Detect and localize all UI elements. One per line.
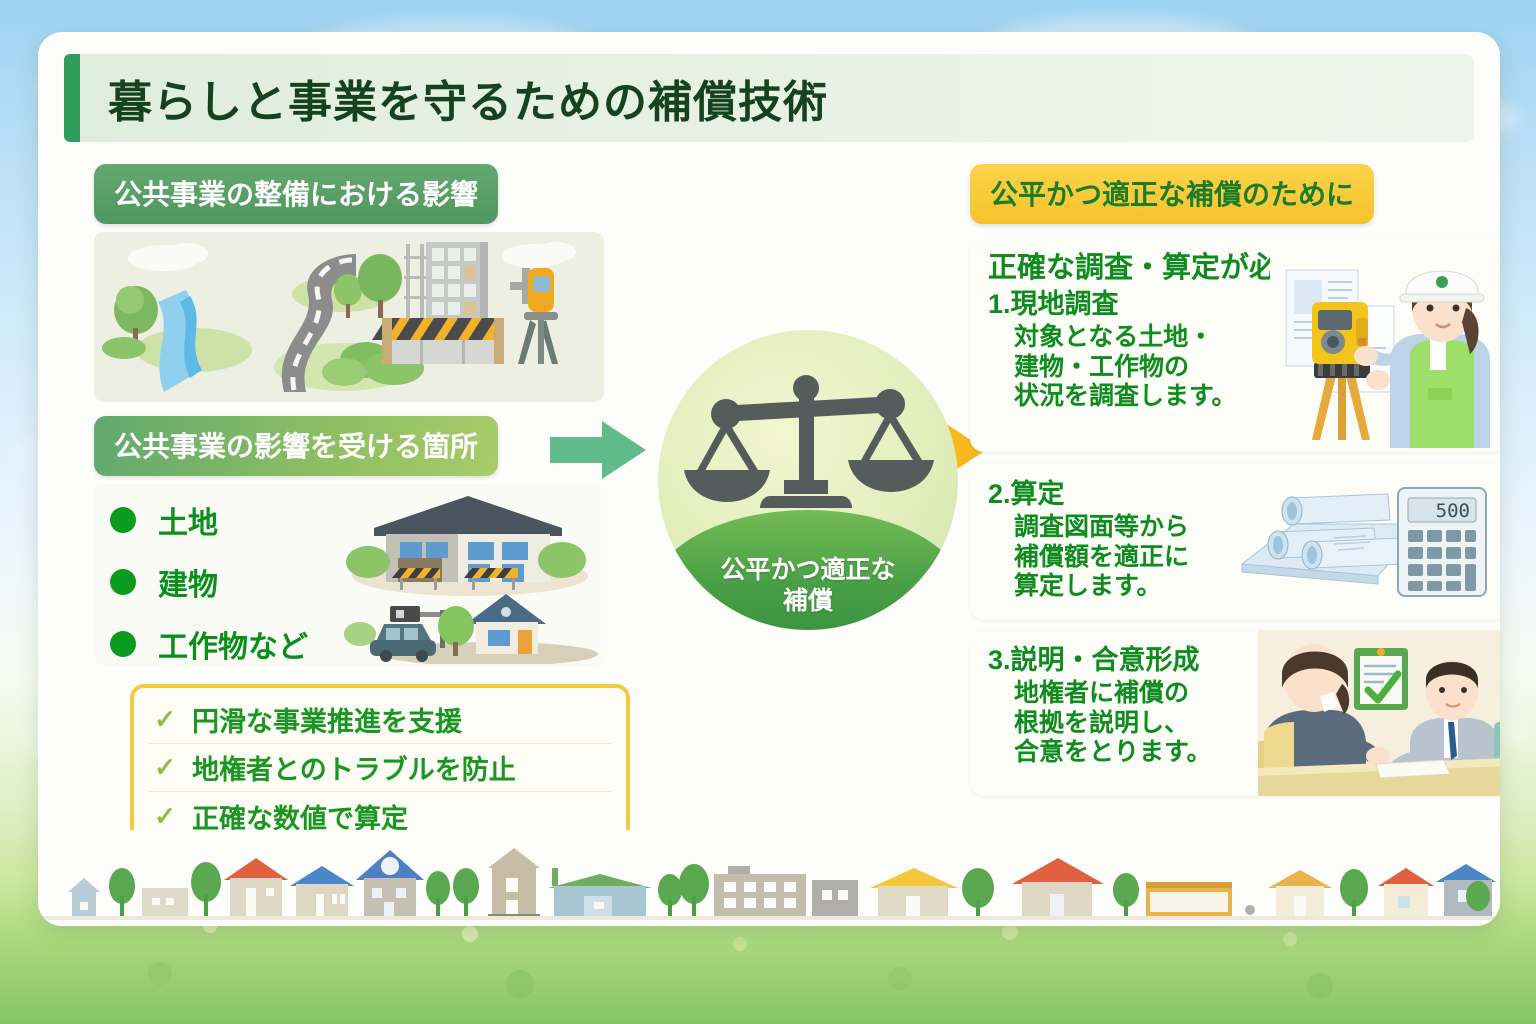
bullet-label: 工作物など xyxy=(158,622,308,666)
step-card-3: 3.説明・合意形成 地権者に補償の 根拠を説明し、 合意をとります。 xyxy=(970,630,1500,796)
affected-areas-panel: 土地 建物 工作物など xyxy=(94,484,604,666)
bullet-label: 建物 xyxy=(158,560,218,604)
filled-circle-bullet-icon xyxy=(110,507,136,533)
check-icon: ✓ xyxy=(148,704,182,735)
title-accent-bar xyxy=(64,54,80,142)
filled-circle-bullet-icon xyxy=(110,631,136,657)
step-body-1: 対象となる土地・ 建物・工作物の 状況を調査します。 xyxy=(1014,323,1237,412)
step-body-3: 地権者に補償の 根拠を説明し、 合意をとります。 xyxy=(1014,679,1212,768)
infographic-card: 暮らしと事業を守るための補償技術 公共事業の整備における影響 xyxy=(38,32,1500,926)
calculator-display: 500 xyxy=(1436,500,1470,522)
public-works-landscape-illustration xyxy=(94,232,604,402)
page-title-bar: 暮らしと事業を守るための補償技術 xyxy=(64,54,1474,142)
checklist-label: 円滑な事業推進を支援 xyxy=(192,700,462,739)
page-title: 暮らしと事業を守るための補償技術 xyxy=(108,66,828,130)
town-skyline-strip xyxy=(38,830,1500,926)
affected-houses-illustration xyxy=(340,484,600,664)
benefits-checklist: ✓ 円滑な事業推進を支援 ✓ 地権者とのトラブルを防止 ✓ 正確な数値で算定 xyxy=(130,684,630,846)
step-title-3: 3.説明・合意形成 xyxy=(988,638,1212,677)
bullet-label: 土地 xyxy=(158,498,218,542)
affected-areas-list: 土地 建物 工作物など xyxy=(110,498,308,666)
step-card-1: 正確な調査・算定が必要です！ xyxy=(970,234,1500,452)
step-title-1: 1.現地調査 xyxy=(988,282,1237,321)
list-item[interactable]: 建物 xyxy=(110,560,308,604)
list-item[interactable]: ✓ 地権者とのトラブルを防止 xyxy=(148,744,612,792)
hub-caption: 公平かつ適正な 補償 xyxy=(658,555,958,616)
check-icon: ✓ xyxy=(148,752,182,783)
section-header-affected-areas: 公共事業の影響を受ける箇所 xyxy=(94,416,498,476)
filled-circle-bullet-icon xyxy=(110,569,136,595)
blueprints-and-calculator-illustration: 500 xyxy=(1238,468,1500,618)
section-header-for-fair-compensation: 公平かつ適正な補償のために xyxy=(970,164,1374,224)
left-column: 公共事業の整備における影響 xyxy=(94,164,604,666)
step-body-2: 調査図面等から 補償額を適正に 算定します。 xyxy=(1014,513,1189,602)
central-concept-hub: 公平かつ適正な 補償 xyxy=(658,330,958,630)
check-icon: ✓ xyxy=(148,801,182,832)
checklist-label: 地権者とのトラブルを防止 xyxy=(192,748,516,787)
two-men-meeting-agreement-illustration xyxy=(1258,630,1500,796)
step-card-2: 500 2.算定 調査図面等から 補償額を適正に 算定します。 xyxy=(970,462,1500,620)
list-item[interactable]: 土地 xyxy=(110,498,308,542)
female-surveyor-with-total-station-illustration xyxy=(1270,252,1500,452)
list-item[interactable]: ✓ 円滑な事業推進を支援 xyxy=(148,696,612,744)
right-column: 公平かつ適正な補償のために 正確な調査・算定が必要です！ xyxy=(970,164,1500,796)
step-title-2: 2.算定 xyxy=(988,472,1189,511)
section-header-impacts: 公共事業の整備における影響 xyxy=(94,164,498,224)
flow-arrow-left xyxy=(550,415,650,485)
list-item[interactable]: 工作物など xyxy=(110,622,308,666)
